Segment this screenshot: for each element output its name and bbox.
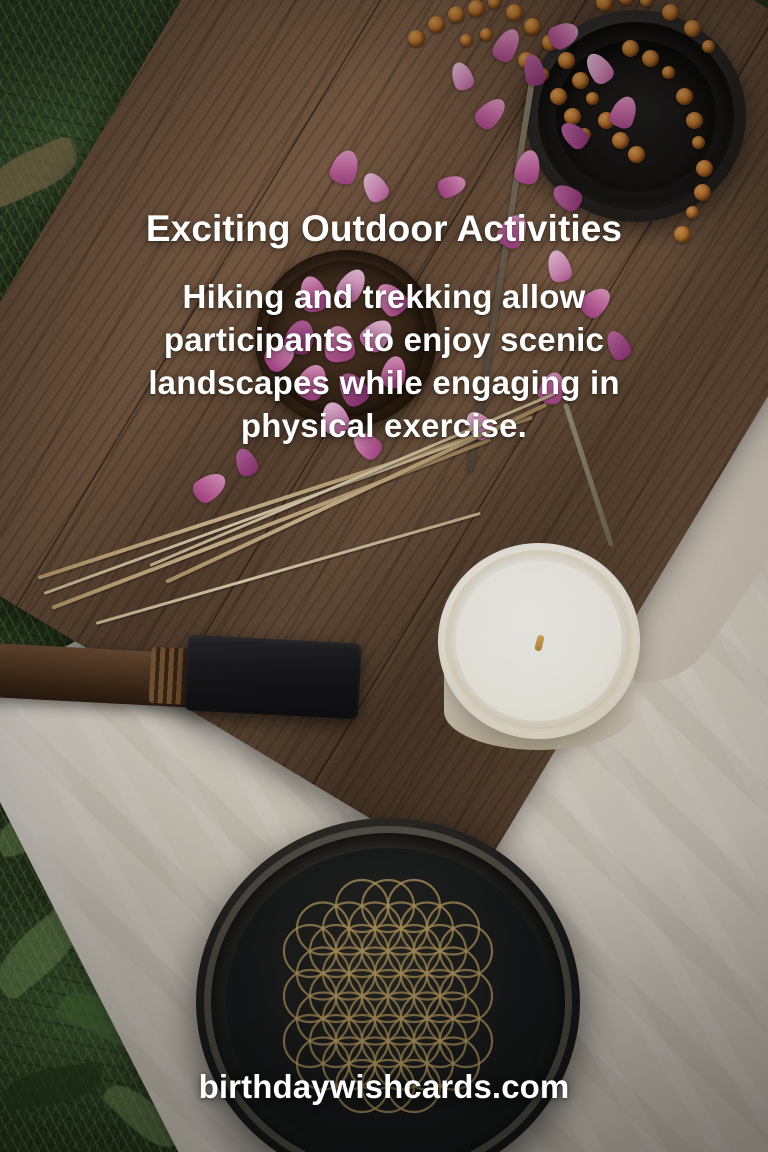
card-headline: Exciting Outdoor Activities	[0, 208, 768, 251]
text-overlay: Exciting Outdoor Activities Hiking and t…	[0, 0, 768, 1152]
card-body-text: Hiking and trekking allow participants t…	[0, 276, 768, 448]
greeting-card: Exciting Outdoor Activities Hiking and t…	[0, 0, 768, 1152]
site-url-footer: birthdaywishcards.com	[0, 1068, 768, 1106]
